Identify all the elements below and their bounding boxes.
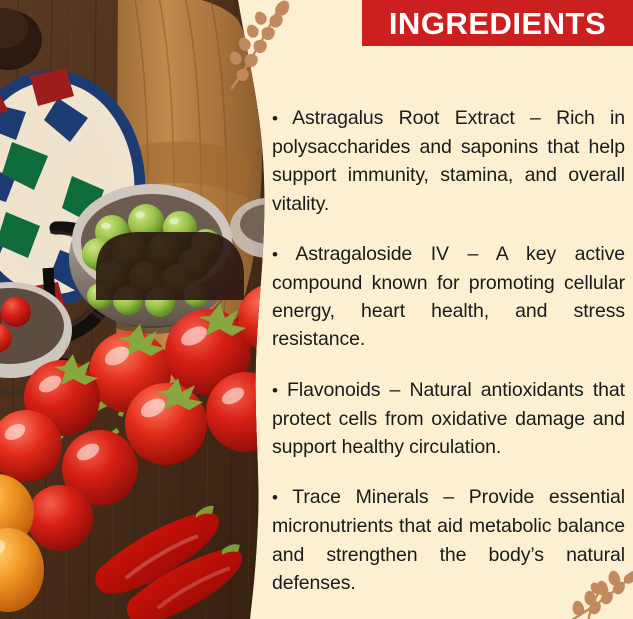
bullet-icon: • (272, 109, 278, 128)
list-item: • Flavonoids – Natural antioxidants that… (272, 376, 625, 462)
ingredients-card: INGREDIENTS • Astragalus Root Extract – … (0, 0, 633, 619)
bullet-icon: • (272, 488, 278, 507)
leaf-sprig-icon (566, 566, 633, 619)
bullet-icon: • (272, 245, 278, 264)
list-item: • Astragaloside IV – A key active compou… (272, 240, 625, 354)
food-photo (0, 0, 300, 619)
ingredients-list: • Astragalus Root Extract – Rich in poly… (272, 104, 625, 597)
list-item-text: Astragaloside IV – A key active compound… (272, 243, 625, 351)
page-title: INGREDIENTS (389, 8, 606, 39)
list-item-text: Flavonoids – Natural antioxidants that p… (272, 379, 625, 458)
leaf-sprig-icon (228, 0, 292, 92)
bullet-icon: • (272, 381, 278, 400)
list-item-text: Astragalus Root Extract – Rich in polysa… (272, 107, 625, 215)
list-item: • Astragalus Root Extract – Rich in poly… (272, 104, 625, 218)
ingredients-banner: INGREDIENTS (362, 0, 633, 46)
